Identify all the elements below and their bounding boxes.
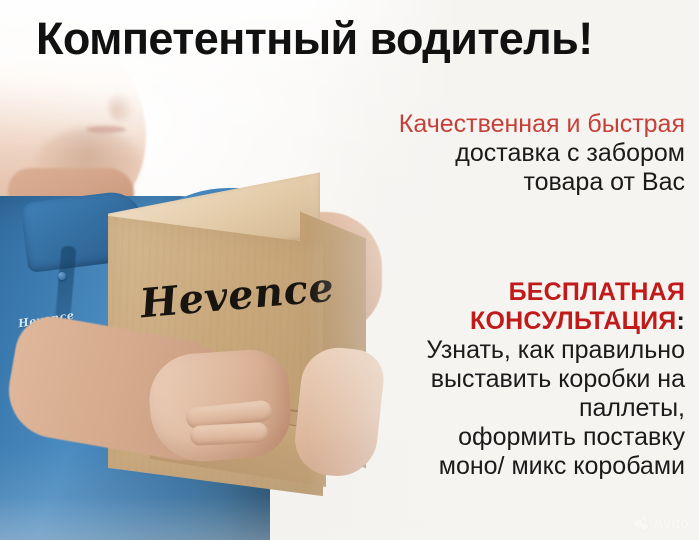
copy-line-text: КОНСУЛЬТАЦИЯ bbox=[470, 307, 676, 335]
copy-line: оформить поставку bbox=[313, 423, 685, 452]
delivery-service-ad-banner: Hevence Hevence Компетентный водитель! К… bbox=[0, 0, 699, 540]
avito-logo-icon bbox=[634, 516, 649, 531]
copy-line: моно/ микс коробами bbox=[313, 452, 685, 481]
copy-line: доставка с забором bbox=[313, 139, 685, 168]
polo-button bbox=[58, 272, 66, 280]
copy-line-with-punct: КОНСУЛЬТАЦИЯ: bbox=[313, 307, 685, 336]
copy-line: Узнать, как правильно bbox=[313, 336, 685, 365]
avito-watermark: Avito bbox=[634, 515, 689, 532]
consultation-copy-block: БЕСПЛАТНАЯ КОНСУЛЬТАЦИЯ: Узнать, как пра… bbox=[313, 278, 685, 481]
driver-mouth bbox=[86, 126, 126, 133]
copy-line-punctuation: : bbox=[676, 307, 685, 335]
copy-line: выставить коробки на bbox=[313, 365, 685, 394]
avito-watermark-label: Avito bbox=[653, 515, 689, 532]
driver-finger bbox=[190, 422, 269, 446]
copy-line: БЕСПЛАТНАЯ bbox=[313, 278, 685, 307]
copy-line: паллеты, bbox=[313, 394, 685, 423]
headline: Компетентный водитель! bbox=[36, 13, 593, 65]
delivery-copy-block: Качественная и быстрая доставка с заборо… bbox=[313, 110, 685, 197]
copy-line: Качественная и быстрая bbox=[313, 110, 685, 139]
driver-nose bbox=[108, 92, 134, 122]
copy-line: товара от Вас bbox=[313, 168, 685, 197]
